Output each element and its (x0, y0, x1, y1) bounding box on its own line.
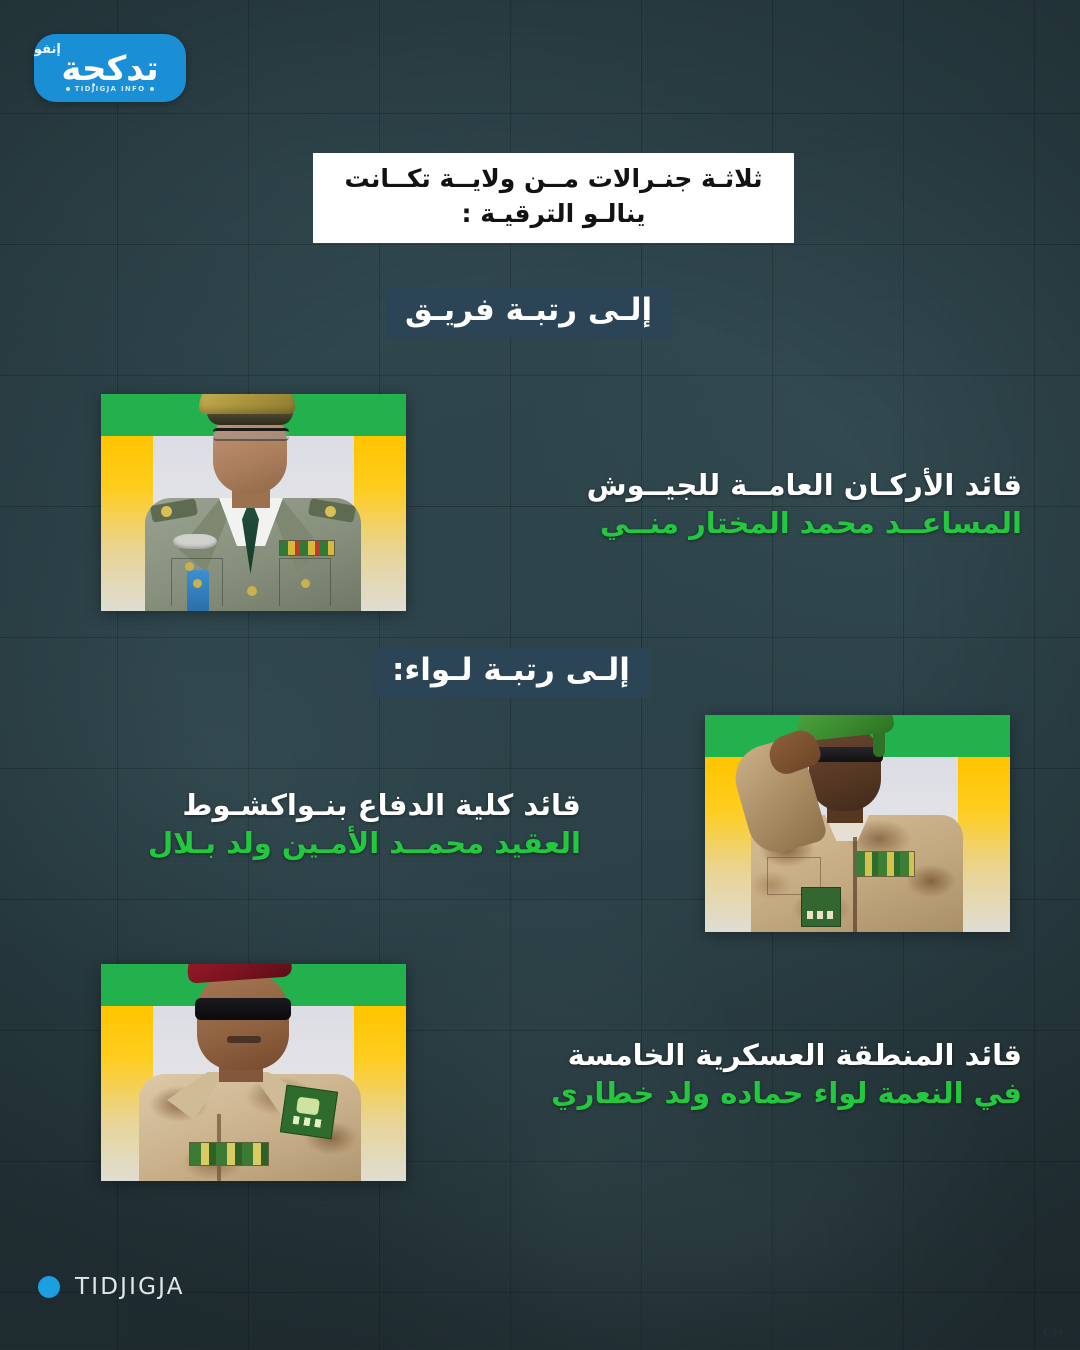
logo-dot-right-icon (150, 87, 154, 91)
frame-gold-bar-right (354, 436, 406, 611)
footer-brand: TIDJIGJA (38, 1274, 185, 1300)
headline-line-1: ثلاثـة جنـرالات مــن ولايــة تكــانت (329, 162, 778, 197)
rank-heading-label: إلـى رتبـة لـواء: (392, 652, 630, 688)
rank-heading-major-general: إلـى رتبـة لـواء: (372, 648, 650, 698)
medal-ribbon-bar (189, 1142, 269, 1166)
headline-line-2: ينالـو الترقيـة : (329, 197, 778, 232)
frame-gold-bar-right (958, 757, 1010, 932)
rank-stars-icon (807, 911, 837, 919)
rank-heading-lieutenant-general: إلـى رتبـة فريـق (385, 288, 672, 338)
moustache (227, 1036, 261, 1043)
officer-name-3: في النعمة لواء حماده ولد خطاري (551, 1074, 1022, 1112)
officer-caption-3: قائد المنطقة العسكرية الخامسة في النعمة … (551, 1036, 1022, 1113)
rank-star-right-icon (325, 506, 336, 517)
frame-gold-bar-right (354, 1006, 406, 1181)
eyeglasses-icon (213, 428, 289, 441)
officer-role-1: قائد الأركـان العامــة للجيــوش (587, 466, 1022, 504)
officer-name-1: المساعــد محمد المختار منــي (587, 504, 1022, 542)
parachutist-wings-icon (173, 534, 217, 549)
brand-logo[interactable]: إنفو تدكجة TIDJIGJA INFO (34, 34, 186, 102)
rank-heading-label: إلـى رتبـة فريـق (405, 292, 652, 328)
corner-watermark: CH (1043, 1326, 1064, 1341)
sunglasses-icon (195, 998, 291, 1020)
officer-caption-2: قائد كلية الدفاع بنـواكشـوط العقيد محمــ… (148, 786, 581, 863)
logo-latin-row: TIDJIGJA INFO (66, 85, 155, 93)
button-icon (185, 562, 194, 571)
pocket-button-icon (301, 579, 310, 588)
medal-ribbon-bar (279, 540, 335, 556)
logo-superscript-text: إنفو (34, 43, 61, 56)
logo-dot-left-icon (66, 87, 70, 91)
insignia-badge (187, 570, 209, 611)
medal-ribbon-bar (855, 851, 915, 877)
footer-dot-icon (38, 1276, 60, 1298)
officer-caption-1: قائد الأركـان العامــة للجيــوش المساعــ… (587, 466, 1022, 543)
officer-role-2: قائد كلية الدفاع بنـواكشـوط (148, 786, 581, 824)
logo-latin-text: TIDJIGJA INFO (75, 85, 146, 93)
officer-photo-2 (705, 715, 1010, 932)
officer-photo-1 (101, 394, 406, 611)
infographic-poster: إنفو تدكجة TIDJIGJA INFO ثلاثـة جنـرالات… (0, 0, 1080, 1350)
button-icon (247, 586, 257, 596)
peaked-cap (199, 394, 295, 414)
rank-patch (801, 887, 841, 927)
officer-photo-3 (101, 964, 406, 1181)
officer-name-2: العقيد محمــد الأمـين ولد بـلال (148, 824, 581, 862)
officer-role-3: قائد المنطقة العسكرية الخامسة (551, 1036, 1022, 1074)
footer-label: TIDJIGJA (75, 1274, 185, 1300)
rank-star-left-icon (161, 506, 172, 517)
pocket-button-icon (193, 579, 202, 588)
headline-block: ثلاثـة جنـرالات مــن ولايــة تكــانت ينا… (313, 153, 794, 243)
face (197, 970, 289, 1070)
rank-emblem-icon (296, 1097, 320, 1116)
logo-main-text: تدكجة (61, 52, 158, 88)
